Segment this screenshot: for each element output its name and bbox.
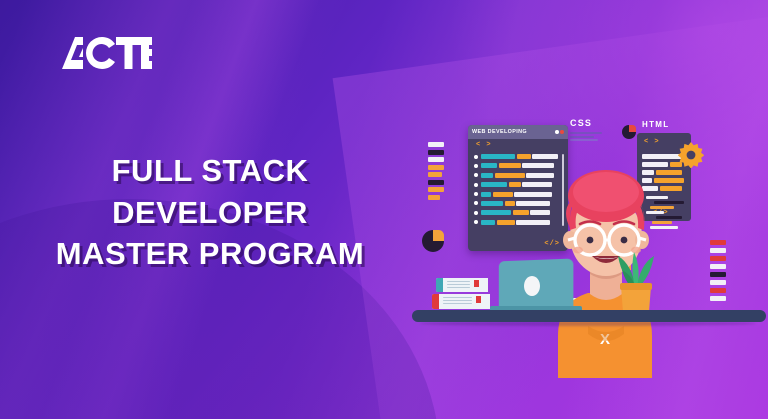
code-line-bullet-icon bbox=[474, 211, 478, 215]
code-token bbox=[481, 210, 511, 215]
code-token bbox=[513, 210, 529, 215]
code-token bbox=[499, 163, 521, 168]
code-token bbox=[509, 182, 521, 187]
html-open-tag-icon: < > bbox=[644, 138, 660, 146]
headline: FULL STACK DEVELOPER MASTER PROGRAM bbox=[0, 150, 420, 275]
code-editor-title: WEB DEVELOPING bbox=[472, 129, 553, 135]
code-line-bullet-icon bbox=[474, 192, 478, 196]
laptop-logo bbox=[524, 276, 540, 296]
illustration: CSS WEB DEVELOPING < > </> HTML < > </> bbox=[410, 100, 768, 380]
window-dot-red-icon bbox=[560, 130, 564, 134]
code-token bbox=[481, 192, 491, 197]
css-label: CSS bbox=[570, 118, 592, 128]
code-token bbox=[481, 154, 515, 159]
code-line-bullet-icon bbox=[474, 173, 478, 177]
code-token bbox=[517, 154, 531, 159]
code-line-bullet-icon bbox=[474, 183, 478, 187]
headline-line-3: MASTER PROGRAM bbox=[0, 233, 420, 275]
code-token bbox=[493, 192, 513, 197]
acte-logo[interactable]: ACTE bbox=[60, 36, 152, 70]
headline-line-1: FULL STACK bbox=[0, 150, 420, 192]
settings-gear-icon bbox=[678, 142, 704, 168]
decor-circle-red bbox=[622, 125, 636, 139]
code-token bbox=[481, 220, 495, 225]
code-line-bullet-icon bbox=[474, 164, 478, 168]
window-dot-white-icon bbox=[555, 130, 559, 134]
code-token bbox=[481, 173, 493, 178]
decor-circle-orange bbox=[422, 230, 444, 252]
css-code-lines bbox=[570, 132, 602, 143]
code-open-tag-icon: < > bbox=[476, 141, 492, 149]
code-editor-titlebar: WEB DEVELOPING bbox=[468, 125, 568, 139]
code-token bbox=[497, 220, 515, 225]
headline-line-2: DEVELOPER bbox=[0, 192, 420, 234]
code-token bbox=[481, 163, 497, 168]
html-label: HTML bbox=[642, 120, 669, 129]
plant bbox=[614, 250, 658, 312]
book-top bbox=[436, 278, 488, 292]
code-token bbox=[481, 182, 507, 187]
book-stack bbox=[432, 278, 490, 312]
decor-right-bars bbox=[710, 240, 726, 304]
code-line-bullet-icon bbox=[474, 155, 478, 159]
code-token bbox=[495, 173, 525, 178]
code-line-bullet-icon bbox=[474, 201, 478, 205]
code-line-bullet-icon bbox=[474, 220, 478, 224]
desk-surface bbox=[412, 310, 766, 322]
code-token bbox=[481, 201, 503, 206]
decor-left-bars bbox=[428, 142, 444, 202]
code-token bbox=[505, 201, 515, 206]
promo-banner: ACTE FULL STACK DEVELOPER MASTER PROGRAM… bbox=[0, 0, 768, 419]
book-bottom bbox=[432, 294, 490, 309]
